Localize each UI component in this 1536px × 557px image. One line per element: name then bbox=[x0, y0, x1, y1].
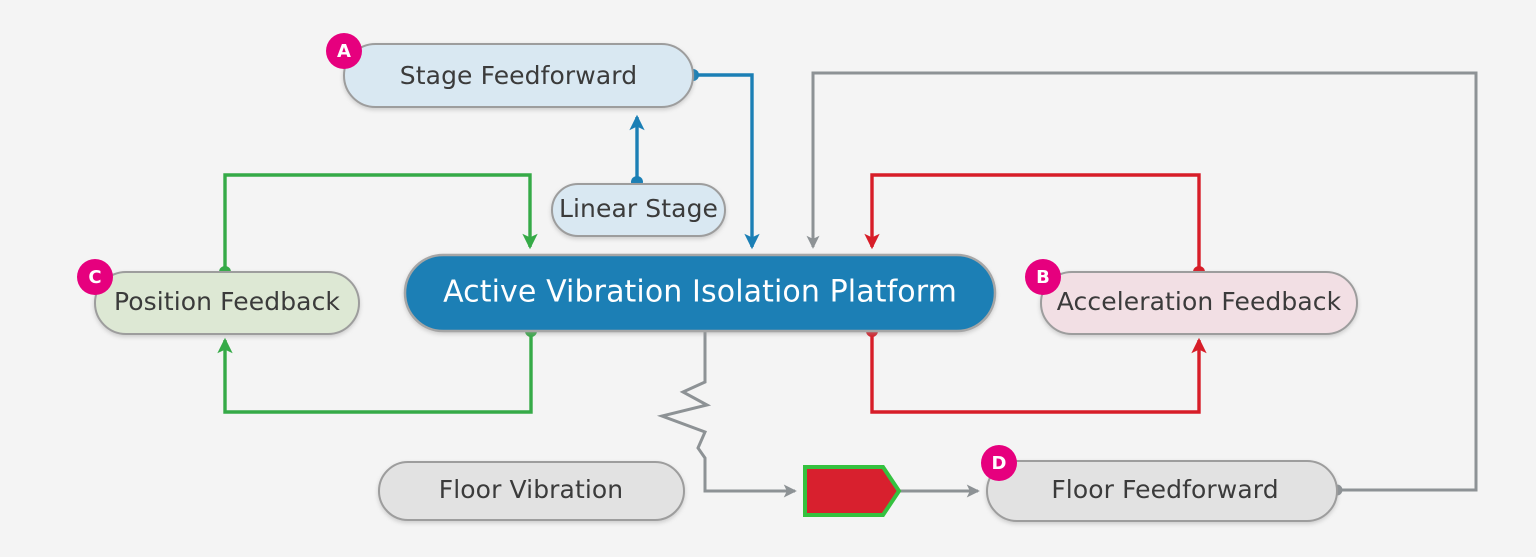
stage-feedforward-label: Stage Feedforward bbox=[400, 61, 637, 90]
spring-zigzag-icon bbox=[662, 331, 795, 491]
badge-d[interactable]: D bbox=[981, 445, 1017, 481]
diagram-canvas: Stage Feedforward Linear Stage Position … bbox=[0, 0, 1536, 557]
badge-d-label: D bbox=[992, 453, 1007, 474]
acceleration-feedback-label: Acceleration Feedback bbox=[1057, 287, 1342, 316]
position-feedback-label: Position Feedback bbox=[114, 287, 340, 316]
actuator-shape[interactable] bbox=[805, 467, 899, 515]
node-floor-vibration[interactable]: Floor Vibration bbox=[379, 462, 684, 520]
floor-vibration-label: Floor Vibration bbox=[439, 475, 624, 504]
badge-c[interactable]: C bbox=[77, 259, 113, 295]
floor-feedforward-label: Floor Feedforward bbox=[1051, 475, 1278, 504]
edge-platform-to-position-feedback bbox=[225, 325, 537, 412]
badge-b[interactable]: B bbox=[1025, 259, 1061, 295]
diagram-svg: Stage Feedforward Linear Stage Position … bbox=[0, 0, 1536, 557]
linear-stage-label: Linear Stage bbox=[559, 194, 718, 223]
badge-b-label: B bbox=[1036, 267, 1050, 288]
node-stage-feedforward[interactable]: Stage Feedforward bbox=[344, 44, 693, 107]
edge-platform-to-acceleration-feedback bbox=[866, 325, 1199, 412]
node-position-feedback[interactable]: Position Feedback bbox=[95, 272, 359, 334]
active-vibration-platform-label: Active Vibration Isolation Platform bbox=[443, 275, 957, 310]
node-actuator[interactable] bbox=[805, 467, 899, 515]
node-acceleration-feedback[interactable]: Acceleration Feedback bbox=[1041, 272, 1357, 334]
edge-platform-spring-to-actuator bbox=[662, 331, 795, 491]
badge-c-label: C bbox=[88, 267, 101, 288]
edge-linear-stage-to-stage-feedforward bbox=[631, 117, 643, 188]
node-floor-feedforward[interactable]: Floor Feedforward bbox=[987, 461, 1337, 521]
badge-a-label: A bbox=[337, 41, 351, 62]
node-active-vibration-platform[interactable]: Active Vibration Isolation Platform bbox=[405, 255, 995, 331]
badge-a[interactable]: A bbox=[326, 33, 362, 69]
node-linear-stage[interactable]: Linear Stage bbox=[552, 184, 725, 236]
